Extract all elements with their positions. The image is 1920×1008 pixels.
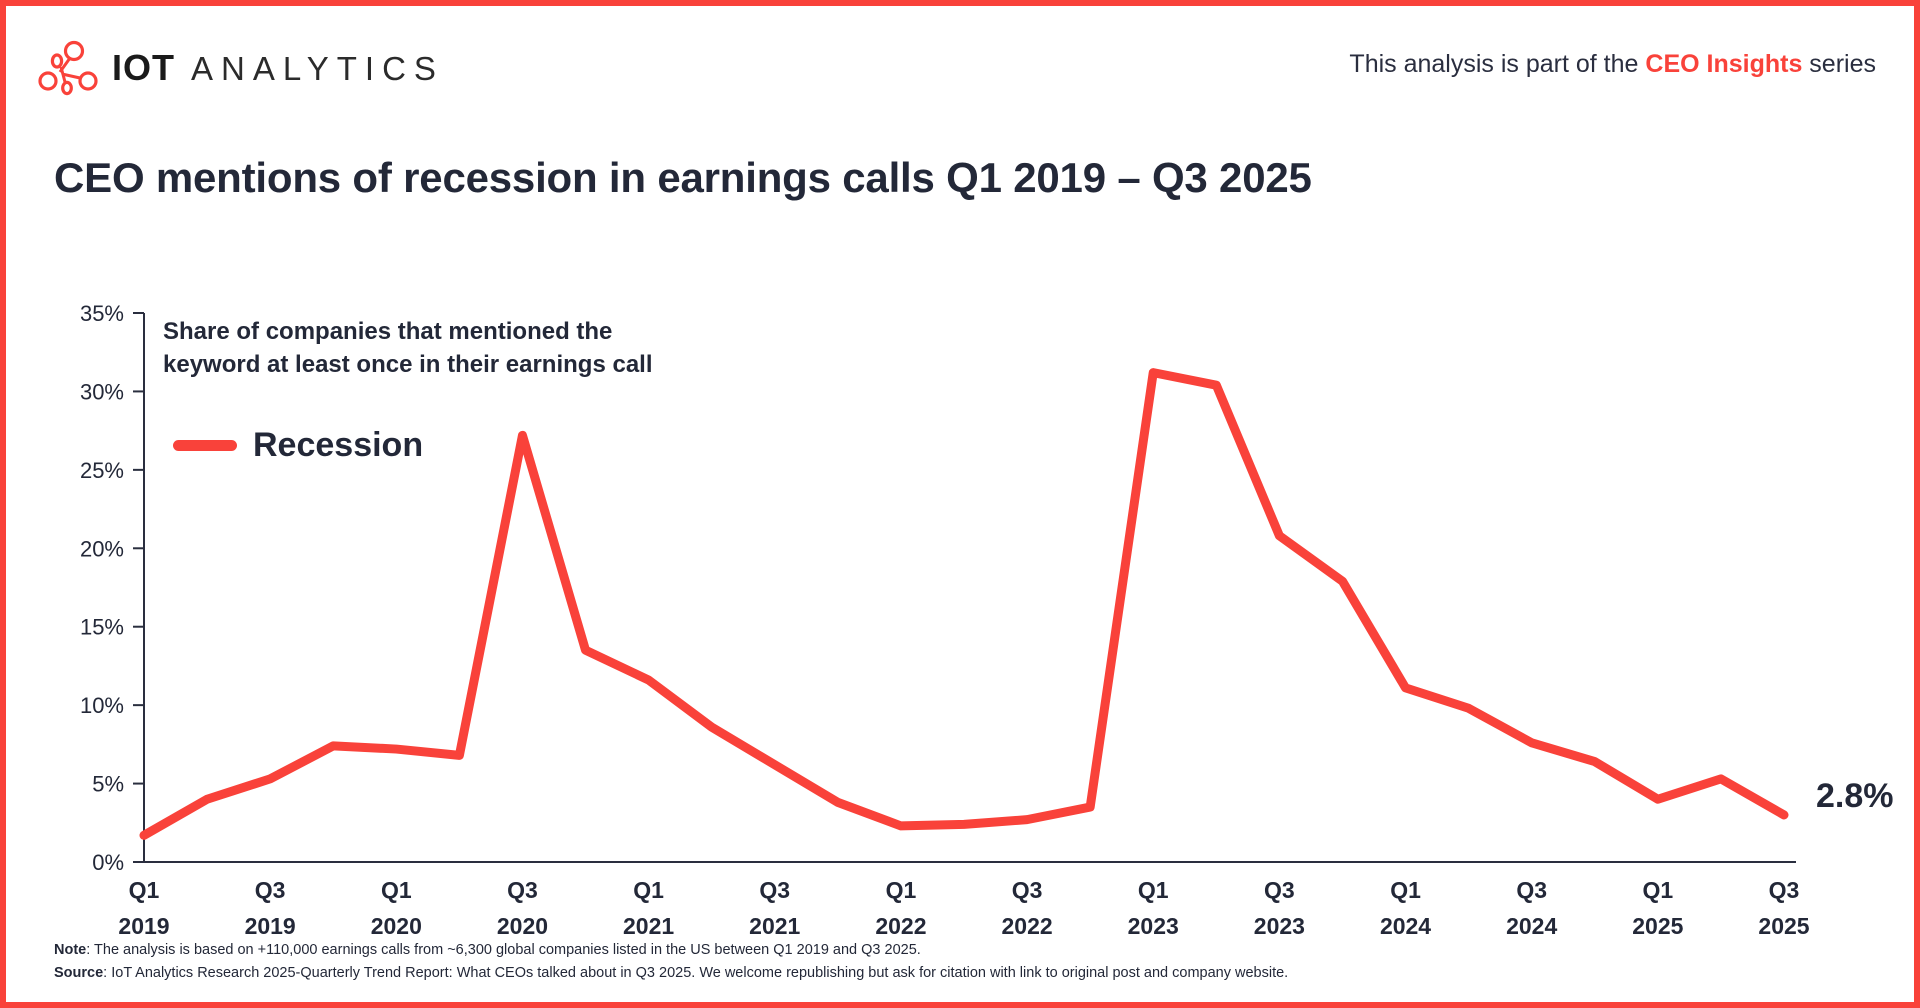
svg-text:Q3: Q3 [759, 877, 790, 903]
network-nodes-icon [36, 40, 98, 96]
header: IOT ANALYTICS This analysis is part of t… [6, 6, 1914, 118]
brand-wordmark: IOT ANALYTICS [112, 47, 444, 89]
footnote-note-label: Note [54, 942, 86, 958]
chart-container: 0%5%10%15%20%25%30%35% Q12019Q32019Q1202… [6, 231, 1920, 941]
page-title: CEO mentions of recession in earnings ca… [54, 154, 1312, 202]
x-axis-tick-label: Q12023 [1128, 877, 1179, 939]
x-axis-tick-label: Q12020 [371, 877, 422, 939]
x-axis-tick-label: Q32023 [1254, 877, 1305, 939]
svg-text:2024: 2024 [1506, 913, 1557, 939]
svg-text:Q1: Q1 [1138, 877, 1169, 903]
series-note-suffix: series [1802, 50, 1876, 78]
x-axis-tick-label: Q32024 [1506, 877, 1557, 939]
svg-text:2019: 2019 [245, 913, 296, 939]
svg-text:2020: 2020 [371, 913, 422, 939]
y-axis-tick-label: 10% [80, 693, 124, 718]
brand-logo: IOT ANALYTICS [36, 40, 444, 96]
series-note: This analysis is part of the CEO Insight… [1349, 50, 1876, 79]
svg-text:2025: 2025 [1632, 913, 1683, 939]
y-axis-tick-label: 25% [80, 458, 124, 483]
y-axis-tick-label: 5% [92, 772, 124, 797]
svg-text:2020: 2020 [497, 913, 548, 939]
svg-text:Q1: Q1 [1390, 877, 1421, 903]
x-axis-tick-label: Q12021 [623, 877, 674, 939]
page-frame: IOT ANALYTICS This analysis is part of t… [0, 0, 1920, 1008]
y-axis-tick-label: 0% [92, 850, 124, 875]
series-note-prefix: This analysis is part of the [1349, 50, 1645, 78]
legend-swatch-recession [173, 440, 237, 451]
footnote-source-text: : IoT Analytics Research 2025-Quarterly … [103, 965, 1288, 981]
svg-text:2023: 2023 [1254, 913, 1305, 939]
x-axis-tick-label: Q32025 [1758, 877, 1809, 939]
logo-primary-text: IOT [112, 47, 175, 89]
x-axis-tick-label: Q12019 [118, 877, 169, 939]
svg-text:Q1: Q1 [1643, 877, 1674, 903]
svg-text:2019: 2019 [118, 913, 169, 939]
svg-text:Q3: Q3 [1012, 877, 1043, 903]
legend-label-recession: Recession [253, 426, 423, 465]
x-axis: Q12019Q32019Q12020Q32020Q12021Q32021Q120… [118, 862, 1809, 939]
svg-text:Q1: Q1 [381, 877, 412, 903]
chart-subtitle: Share of companies that mentioned the ke… [163, 316, 653, 382]
x-axis-tick-label: Q12022 [875, 877, 926, 939]
series-note-highlight: CEO Insights [1645, 50, 1802, 78]
y-axis-tick-label: 30% [80, 379, 124, 404]
y-axis: 0%5%10%15%20%25%30%35% [80, 301, 144, 875]
svg-text:2021: 2021 [623, 913, 674, 939]
footnote-note-text: : The analysis is based on +110,000 earn… [86, 942, 921, 958]
chart-legend: Recession [173, 426, 423, 465]
chart-subtitle-line1: Share of companies that mentioned the [163, 316, 653, 349]
svg-text:Q3: Q3 [507, 877, 538, 903]
svg-text:2022: 2022 [875, 913, 926, 939]
x-axis-tick-label: Q32019 [245, 877, 296, 939]
x-axis-tick-label: Q32022 [1001, 877, 1052, 939]
y-axis-tick-label: 15% [80, 615, 124, 640]
x-axis-tick-label: Q12025 [1632, 877, 1683, 939]
svg-text:2023: 2023 [1128, 913, 1179, 939]
svg-text:Q3: Q3 [1769, 877, 1800, 903]
logo-secondary-text: ANALYTICS [191, 50, 444, 88]
footnotes: Note: The analysis is based on +110,000 … [54, 939, 1288, 984]
footnote-source: Source: IoT Analytics Research 2025-Quar… [54, 962, 1288, 984]
y-axis-tick-label: 35% [80, 301, 124, 326]
footnote-note: Note: The analysis is based on +110,000 … [54, 939, 1288, 961]
svg-text:2021: 2021 [749, 913, 800, 939]
svg-text:Q3: Q3 [1516, 877, 1547, 903]
svg-text:2022: 2022 [1001, 913, 1052, 939]
svg-text:2025: 2025 [1758, 913, 1809, 939]
chart-subtitle-line2: keyword at least once in their earnings … [163, 349, 653, 382]
svg-text:Q1: Q1 [129, 877, 160, 903]
x-axis-tick-label: Q32021 [749, 877, 800, 939]
svg-text:2024: 2024 [1380, 913, 1431, 939]
svg-text:Q1: Q1 [886, 877, 917, 903]
svg-text:Q3: Q3 [1264, 877, 1295, 903]
footnote-source-label: Source [54, 965, 103, 981]
y-axis-tick-label: 20% [80, 536, 124, 561]
end-value-label: 2.8% [1816, 777, 1894, 816]
svg-text:Q3: Q3 [255, 877, 286, 903]
svg-text:Q1: Q1 [633, 877, 664, 903]
x-axis-tick-label: Q12024 [1380, 877, 1431, 939]
x-axis-tick-label: Q32020 [497, 877, 548, 939]
